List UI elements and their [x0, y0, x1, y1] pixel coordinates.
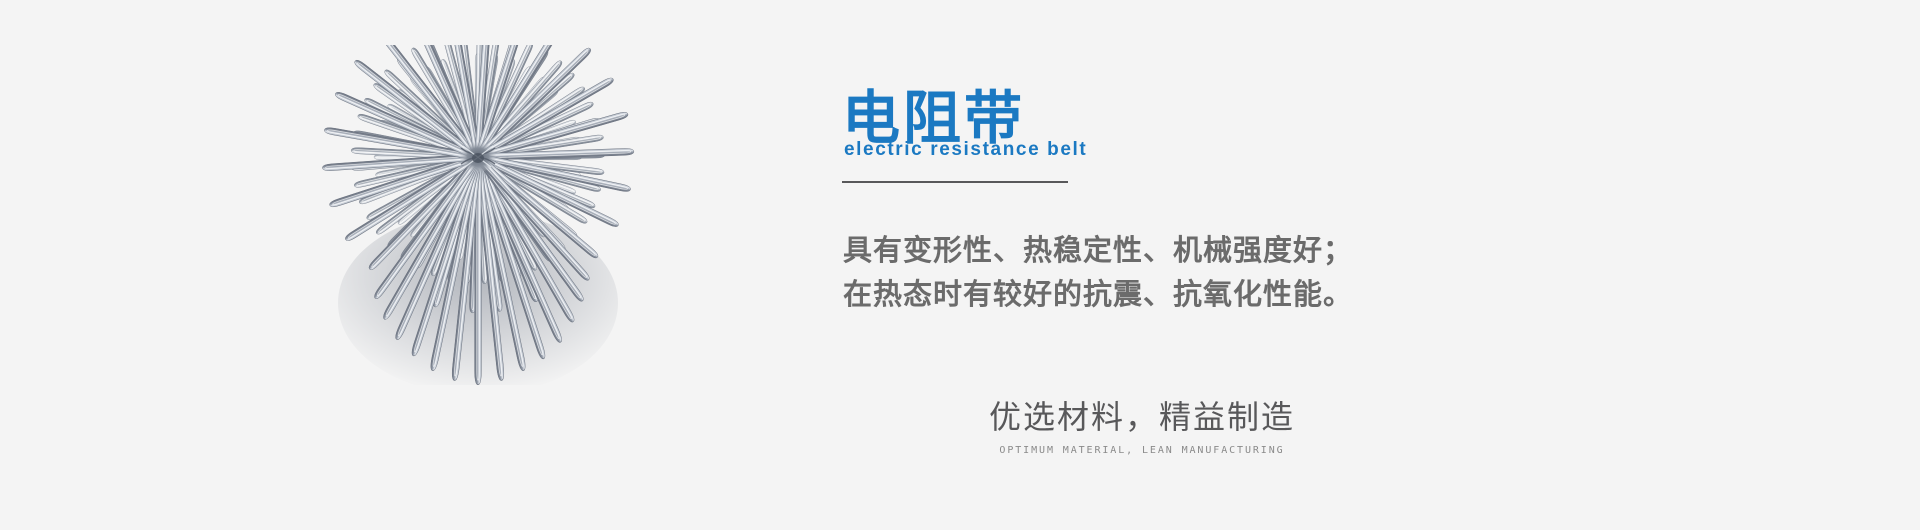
content-column: 电阻带 electric resistance belt 具有变形性、热稳定性、… — [840, 0, 1740, 530]
resistance-belt-coil-photo — [300, 45, 660, 385]
description-line-2: 在热态时有较好的抗震、抗氧化性能。 — [843, 272, 1353, 316]
title-divider — [842, 181, 1068, 183]
slogan-block: 优选材料，精益制造 OPTIMUM MATERIAL, LEAN MANUFAC… — [952, 396, 1332, 458]
product-description: 具有变形性、热稳定性、机械强度好； 在热态时有较好的抗震、抗氧化性能。 — [843, 228, 1353, 316]
product-banner: 电阻带 electric resistance belt 具有变形性、热稳定性、… — [0, 0, 1920, 530]
description-line-1: 具有变形性、热稳定性、机械强度好； — [843, 228, 1353, 272]
product-image — [300, 45, 660, 385]
slogan-english: OPTIMUM MATERIAL, LEAN MANUFACTURING — [952, 444, 1332, 458]
page-subtitle: electric resistance belt — [844, 138, 1087, 162]
slogan-chinese: 优选材料，精益制造 — [952, 396, 1332, 438]
